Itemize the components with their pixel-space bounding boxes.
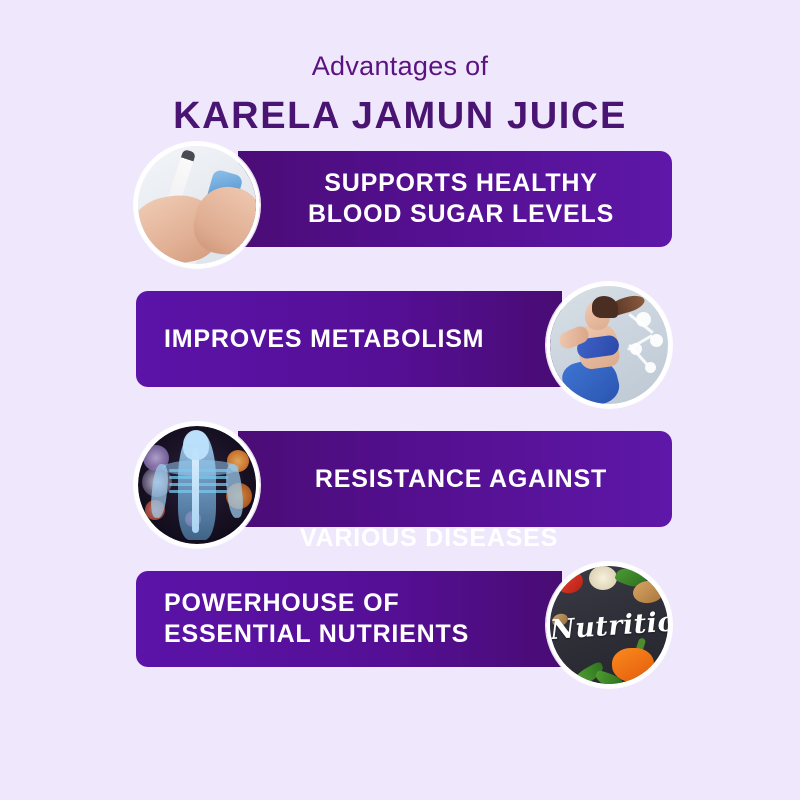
- benefit-label-overflow: VARIOUS DISEASES: [212, 523, 646, 555]
- benefit-label: RESISTANCE AGAINST: [315, 464, 607, 496]
- infographic-page: { "header": { "eyebrow": "Advantages of"…: [0, 0, 800, 800]
- benefit-bar: RESISTANCE AGAINST VARIOUS DISEASES: [212, 431, 672, 527]
- page-title: KARELA JAMUN JUICE: [0, 96, 800, 138]
- benefits-list: SUPPORTS HEALTHY BLOOD SUGAR LEVELS IMPR…: [0, 137, 800, 697]
- page-header: Advantages of KARELA JAMUN JUICE: [0, 0, 800, 137]
- glucose-test-artwork: [138, 146, 256, 264]
- benefit-row-essential-nutrients: POWERHOUSE OF ESSENTIAL NUTRIENTS Nutrit…: [0, 557, 800, 697]
- body-head-shape: [183, 430, 209, 460]
- benefit-row-metabolism: IMPROVES METABOLISM: [0, 277, 800, 417]
- garlic-shape: [589, 566, 617, 590]
- spine-shape: [192, 448, 199, 533]
- glucose-test-photo: [134, 142, 260, 268]
- benefit-row-disease-resistance: RESISTANCE AGAINST VARIOUS DISEASES: [0, 417, 800, 557]
- benefit-bar: SUPPORTS HEALTHY BLOOD SUGAR LEVELS: [212, 151, 672, 247]
- immune-system-photo: [134, 422, 260, 548]
- benefit-bar: IMPROVES METABOLISM: [136, 291, 588, 387]
- nutrition-board-artwork: Nutrition: [550, 566, 668, 684]
- benefit-label: SUPPORTS HEALTHY BLOOD SUGAR LEVELS: [308, 168, 614, 231]
- nutrition-caption: Nutrition: [550, 607, 668, 646]
- body-shoulder-shape: [162, 460, 240, 476]
- molecule-node-shape: [645, 362, 656, 373]
- benefit-row-blood-sugar: SUPPORTS HEALTHY BLOOD SUGAR LEVELS: [0, 137, 800, 277]
- nutrition-board-photo: Nutrition: [546, 562, 672, 688]
- molecule-node-shape: [630, 343, 642, 355]
- bell-pepper-shape: [612, 648, 654, 682]
- benefit-bar: POWERHOUSE OF ESSENTIAL NUTRIENTS: [136, 571, 588, 667]
- molecule-node-shape: [650, 334, 663, 347]
- header-eyebrow: Advantages of: [0, 52, 800, 82]
- running-woman-artwork: [550, 286, 668, 404]
- benefit-label: POWERHOUSE OF ESSENTIAL NUTRIENTS: [164, 588, 469, 651]
- molecule-node-shape: [636, 312, 651, 327]
- benefit-label: IMPROVES METABOLISM: [164, 324, 484, 356]
- immune-system-artwork: [138, 426, 256, 544]
- running-woman-photo: [546, 282, 672, 408]
- runner-hair-shape: [592, 296, 618, 318]
